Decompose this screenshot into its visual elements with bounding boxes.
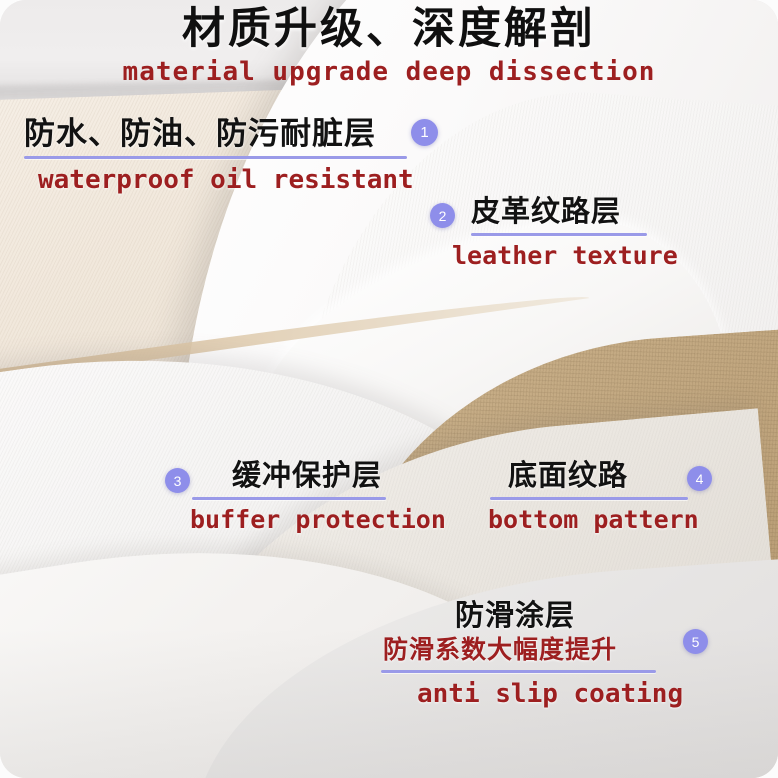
callout-5-title-en: anti slip coating xyxy=(417,681,683,707)
callout-2-title-en: leather texture xyxy=(452,243,678,268)
callout-5-rule xyxy=(381,670,656,673)
callout-1-rule xyxy=(24,156,407,159)
product-infographic: 材质升级、深度解剖 material upgrade deep dissecti… xyxy=(0,0,778,778)
callout-5-title-cn: 防滑涂层 xyxy=(455,602,683,631)
callout-2-title-cn: 皮革纹路层 xyxy=(471,198,678,227)
callout-3-title-cn: 缓冲保护层 xyxy=(232,462,446,491)
callout-4-title-en: bottom pattern xyxy=(488,507,699,532)
callout-5-emphasis-cn: 防滑系数大幅度提升 xyxy=(383,638,683,663)
callout-layer-4[interactable]: 底面纹路 bottom pattern xyxy=(508,462,699,532)
badge-2[interactable]: 2 xyxy=(430,203,455,228)
infographic-card: 材质升级、深度解剖 material upgrade deep dissecti… xyxy=(0,0,778,778)
badge-3[interactable]: 3 xyxy=(165,468,190,493)
badge-1[interactable]: 1 xyxy=(411,119,438,146)
callout-2-rule xyxy=(471,233,647,236)
page-title-cn: 材质升级、深度解剖 xyxy=(0,6,778,52)
badge-4[interactable]: 4 xyxy=(687,466,712,491)
callout-layer-2[interactable]: 皮革纹路层 leather texture xyxy=(471,198,678,268)
callout-layer-1[interactable]: 防水、防油、防污耐脏层 waterproof oil resistant xyxy=(24,118,414,193)
callout-layer-5[interactable]: 防滑涂层 防滑系数大幅度提升 anti slip coating xyxy=(455,602,683,707)
callout-1-title-cn: 防水、防油、防污耐脏层 xyxy=(24,118,414,149)
callout-3-rule xyxy=(192,497,386,500)
header: 材质升级、深度解剖 material upgrade deep dissecti… xyxy=(0,6,778,87)
page-title-en: material upgrade deep dissection xyxy=(0,57,778,87)
callout-3-title-en: buffer protection xyxy=(190,507,446,532)
badge-5[interactable]: 5 xyxy=(683,629,708,654)
callout-4-rule xyxy=(490,497,688,500)
callout-1-title-en: waterproof oil resistant xyxy=(38,167,414,193)
callout-4-title-cn: 底面纹路 xyxy=(508,462,699,491)
callout-layer-3[interactable]: 缓冲保护层 buffer protection xyxy=(232,462,446,532)
